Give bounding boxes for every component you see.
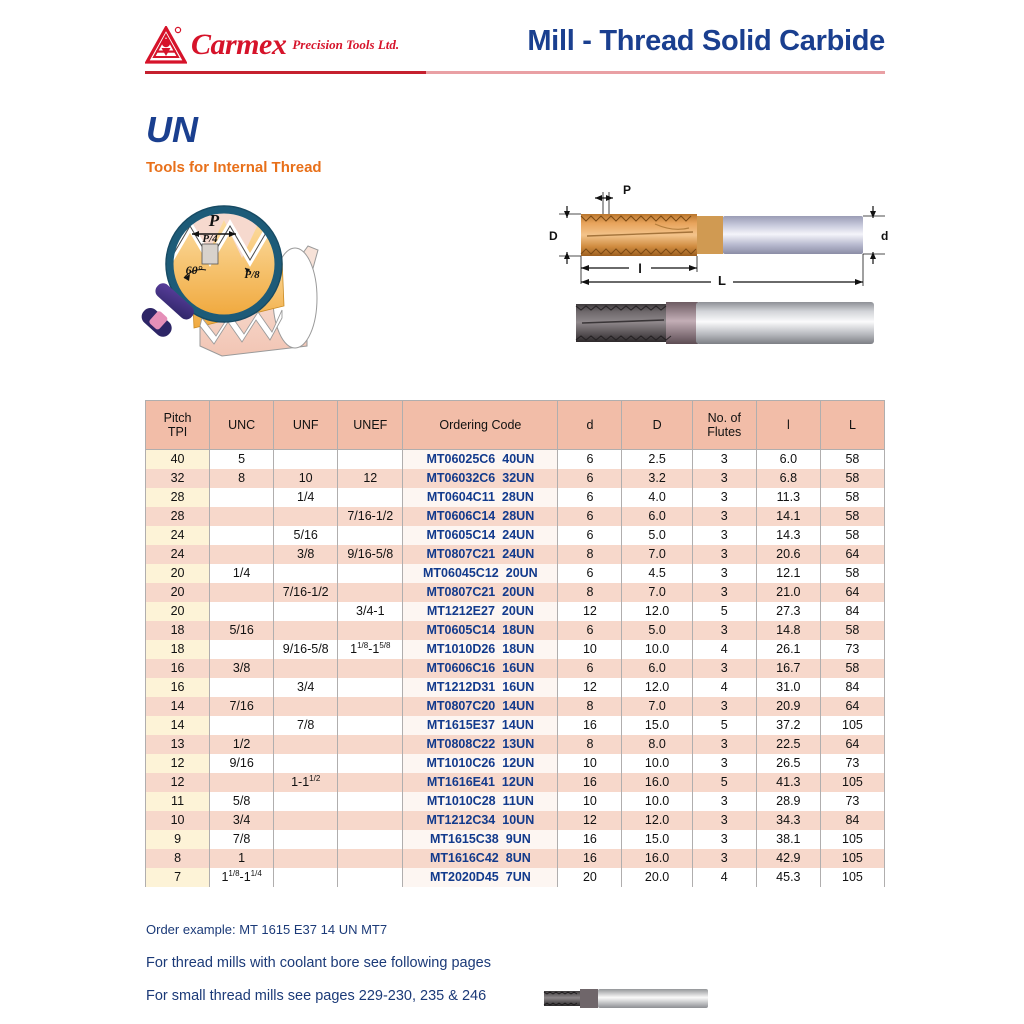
cell-unf: 1/4 xyxy=(274,488,338,507)
cell-unef: 12 xyxy=(338,469,403,488)
cell-pitch-tpi: 7 xyxy=(146,868,210,887)
cell-major-diameter: 3.2 xyxy=(622,469,692,488)
ordering-code-un: 14UN xyxy=(502,716,534,735)
cell-unef xyxy=(338,526,403,545)
diagram-label-l: l xyxy=(638,261,642,276)
profile-label-angle: 60° xyxy=(186,263,203,277)
cell-overall-length: 58 xyxy=(820,450,884,470)
cell-ordering-code[interactable]: MT1615E3714UN xyxy=(403,716,558,735)
cell-ordering-code[interactable]: MT06032C632UN xyxy=(403,469,558,488)
cell-major-diameter: 6.0 xyxy=(622,659,692,678)
cell-shank-diameter: 8 xyxy=(558,583,622,602)
cell-unef: 3/4-1 xyxy=(338,602,403,621)
cell-shank-diameter: 16 xyxy=(558,773,622,792)
ordering-code-un: 20UN xyxy=(502,602,534,621)
cell-thread-length: 26.1 xyxy=(756,640,820,659)
cell-unf xyxy=(274,830,338,849)
cell-pitch-tpi: 32 xyxy=(146,469,210,488)
ordering-code-un: 8UN xyxy=(506,849,531,868)
cell-shank-diameter: 6 xyxy=(558,488,622,507)
cell-overall-length: 105 xyxy=(820,773,884,792)
column-header-pitch: Pitch TPI xyxy=(146,401,210,450)
flutes-header-line2: Flutes xyxy=(707,425,741,439)
cell-pitch-tpi: 12 xyxy=(146,754,210,773)
cell-overall-length: 105 xyxy=(820,716,884,735)
cell-number-of-flutes: 3 xyxy=(692,583,756,602)
ordering-code-un: 7UN xyxy=(506,868,531,887)
cell-ordering-code[interactable]: MT0605C1418UN xyxy=(403,621,558,640)
cell-overall-length: 73 xyxy=(820,640,884,659)
cell-unf: 7/16-1/2 xyxy=(274,583,338,602)
cell-ordering-code[interactable]: MT1212C3410UN xyxy=(403,811,558,830)
cell-overall-length: 73 xyxy=(820,792,884,811)
cell-unc xyxy=(210,773,274,792)
cell-major-diameter: 2.5 xyxy=(622,450,692,470)
cell-unc: 1/2 xyxy=(210,735,274,754)
cell-ordering-code[interactable]: MT0604C1128UN xyxy=(403,488,558,507)
cell-number-of-flutes: 3 xyxy=(692,621,756,640)
cell-shank-diameter: 6 xyxy=(558,621,622,640)
cell-unc xyxy=(210,716,274,735)
cell-unf xyxy=(274,811,338,830)
cell-unef xyxy=(338,811,403,830)
table-row: 287/16-1/2MT0606C1428UN66.0314.158 xyxy=(146,507,885,526)
cell-unef xyxy=(338,830,403,849)
cell-unef xyxy=(338,488,403,507)
cell-shank-diameter: 8 xyxy=(558,697,622,716)
cell-thread-length: 31.0 xyxy=(756,678,820,697)
ordering-code-un: 28UN xyxy=(502,507,534,526)
cell-ordering-code[interactable]: MT1010D2618UN xyxy=(403,640,558,659)
cell-unf xyxy=(274,659,338,678)
cell-thread-length: 42.9 xyxy=(756,849,820,868)
brand-logo: Carmex Precision Tools Ltd. xyxy=(145,22,399,68)
cell-pitch-tpi: 40 xyxy=(146,450,210,470)
cell-overall-length: 58 xyxy=(820,526,884,545)
cell-overall-length: 58 xyxy=(820,469,884,488)
cell-ordering-code[interactable]: MT2020D457UN xyxy=(403,868,558,887)
ordering-code-base: MT1010C28 xyxy=(427,792,496,811)
cell-unc: 1/4 xyxy=(210,564,274,583)
cell-shank-diameter: 20 xyxy=(558,868,622,887)
cell-overall-length: 73 xyxy=(820,754,884,773)
cell-pitch-tpi: 11 xyxy=(146,792,210,811)
cell-major-diameter: 6.0 xyxy=(622,507,692,526)
ordering-code-un: 40UN xyxy=(502,450,534,469)
cell-number-of-flutes: 3 xyxy=(692,735,756,754)
cell-number-of-flutes: 3 xyxy=(692,659,756,678)
cell-unc: 7/16 xyxy=(210,697,274,716)
cell-unc xyxy=(210,507,274,526)
ordering-code-base: MT1615C38 xyxy=(430,830,499,849)
table-row: 281/4MT0604C1128UN64.0311.358 xyxy=(146,488,885,507)
cell-unc xyxy=(210,602,274,621)
cell-number-of-flutes: 4 xyxy=(692,678,756,697)
cell-pitch-tpi: 8 xyxy=(146,849,210,868)
ordering-code-base: MT1212C34 xyxy=(426,811,495,830)
cell-unc: 8 xyxy=(210,469,274,488)
cell-shank-diameter: 6 xyxy=(558,526,622,545)
cell-unef xyxy=(338,450,403,470)
ordering-code-base: MT1212D31 xyxy=(426,678,495,697)
small-mills-note: For small thread mills see pages 229-230… xyxy=(146,988,486,1004)
ordering-code-un: 24UN xyxy=(502,526,534,545)
cell-unef xyxy=(338,564,403,583)
ordering-code-un: 13UN xyxy=(502,735,534,754)
cell-ordering-code[interactable]: MT0808C2213UN xyxy=(403,735,558,754)
cell-pitch-tpi: 20 xyxy=(146,602,210,621)
table-body: 405MT06025C640UN62.536.0583281012MT06032… xyxy=(146,450,885,888)
cell-ordering-code[interactable]: MT0807C2120UN xyxy=(403,583,558,602)
cell-overall-length: 58 xyxy=(820,488,884,507)
cell-pitch-tpi: 16 xyxy=(146,659,210,678)
cell-number-of-flutes: 3 xyxy=(692,811,756,830)
cell-thread-length: 41.3 xyxy=(756,773,820,792)
table-row: 3281012MT06032C632UN63.236.858 xyxy=(146,469,885,488)
cell-unef xyxy=(338,773,403,792)
cell-major-diameter: 15.0 xyxy=(622,716,692,735)
brand-name: Carmex xyxy=(191,30,286,60)
table-row: 405MT06025C640UN62.536.058 xyxy=(146,450,885,470)
cell-major-diameter: 10.0 xyxy=(622,640,692,659)
cell-ordering-code[interactable]: MT0605C1424UN xyxy=(403,526,558,545)
cell-shank-diameter: 6 xyxy=(558,450,622,470)
cell-shank-diameter: 16 xyxy=(558,849,622,868)
cell-ordering-code[interactable]: MT1212E2720UN xyxy=(403,602,558,621)
header-divider xyxy=(145,71,885,74)
cell-overall-length: 105 xyxy=(820,868,884,887)
cell-major-diameter: 7.0 xyxy=(622,545,692,564)
cell-overall-length: 58 xyxy=(820,621,884,640)
cell-major-diameter: 12.0 xyxy=(622,678,692,697)
table-row: 121-11/2MT1616E4112UN1616.0541.3105 xyxy=(146,773,885,792)
cell-number-of-flutes: 3 xyxy=(692,849,756,868)
cell-overall-length: 64 xyxy=(820,735,884,754)
cell-major-diameter: 7.0 xyxy=(622,697,692,716)
cell-unef xyxy=(338,735,403,754)
cell-major-diameter: 8.0 xyxy=(622,735,692,754)
ordering-code-un: 12UN xyxy=(502,773,534,792)
table-row: 97/8MT1615C389UN1615.0338.1105 xyxy=(146,830,885,849)
cell-major-diameter: 4.5 xyxy=(622,564,692,583)
ordering-code-un: 10UN xyxy=(502,811,534,830)
cell-ordering-code[interactable]: MT1010C2811UN xyxy=(403,792,558,811)
cell-thread-length: 6.0 xyxy=(756,450,820,470)
cell-unef xyxy=(338,792,403,811)
cell-major-diameter: 10.0 xyxy=(622,792,692,811)
ordering-code-un: 18UN xyxy=(502,621,534,640)
cell-major-diameter: 15.0 xyxy=(622,830,692,849)
cell-shank-diameter: 8 xyxy=(558,545,622,564)
cell-unf: 3/4 xyxy=(274,678,338,697)
cell-thread-length: 20.9 xyxy=(756,697,820,716)
cell-thread-length: 38.1 xyxy=(756,830,820,849)
cell-pitch-tpi: 20 xyxy=(146,564,210,583)
cell-ordering-code[interactable]: MT06025C640UN xyxy=(403,450,558,470)
table-row: 243/89/16-5/8MT0807C2124UN87.0320.664 xyxy=(146,545,885,564)
table-row: 163/4MT1212D3116UN1212.0431.084 xyxy=(146,678,885,697)
ordering-code-base: MT06025C6 xyxy=(426,450,495,469)
specification-table-wrapper: Pitch TPI UNC UNF UNEF Ordering Code d D… xyxy=(145,400,885,887)
cell-shank-diameter: 16 xyxy=(558,716,622,735)
cell-number-of-flutes: 5 xyxy=(692,773,756,792)
cell-pitch-tpi: 14 xyxy=(146,716,210,735)
cell-number-of-flutes: 3 xyxy=(692,526,756,545)
cell-unc xyxy=(210,488,274,507)
ordering-code-un: 24UN xyxy=(502,545,534,564)
ordering-code-un: 32UN xyxy=(502,469,534,488)
cell-overall-length: 64 xyxy=(820,545,884,564)
cell-overall-length: 84 xyxy=(820,602,884,621)
column-header-unc: UNC xyxy=(210,401,274,450)
cell-thread-length: 45.3 xyxy=(756,868,820,887)
ordering-code-base: MT0606C16 xyxy=(426,659,495,678)
diagram-label-P: P xyxy=(623,183,631,197)
cell-ordering-code[interactable]: MT1010C2612UN xyxy=(403,754,558,773)
cell-shank-diameter: 10 xyxy=(558,640,622,659)
cell-unf: 3/8 xyxy=(274,545,338,564)
cell-number-of-flutes: 3 xyxy=(692,830,756,849)
ordering-code-un: 11UN xyxy=(503,792,534,811)
cell-unc: 3/4 xyxy=(210,811,274,830)
cell-unc: 3/8 xyxy=(210,659,274,678)
cell-pitch-tpi: 28 xyxy=(146,488,210,507)
cell-major-diameter: 7.0 xyxy=(622,583,692,602)
cell-major-diameter: 16.0 xyxy=(622,773,692,792)
cell-thread-length: 21.0 xyxy=(756,583,820,602)
cell-shank-diameter: 10 xyxy=(558,792,622,811)
cell-shank-diameter: 8 xyxy=(558,735,622,754)
cell-shank-diameter: 12 xyxy=(558,678,622,697)
table-row: 81MT1616C428UN1616.0342.9105 xyxy=(146,849,885,868)
cell-thread-length: 20.6 xyxy=(756,545,820,564)
cell-number-of-flutes: 5 xyxy=(692,716,756,735)
ordering-code-base: MT1616C42 xyxy=(430,849,499,868)
cell-unf xyxy=(274,564,338,583)
table-row: 163/8MT0606C1616UN66.0316.758 xyxy=(146,659,885,678)
table-row: 131/2MT0808C2213UN88.0322.564 xyxy=(146,735,885,754)
cell-thread-length: 37.2 xyxy=(756,716,820,735)
cell-unef xyxy=(338,659,403,678)
cell-thread-length: 27.3 xyxy=(756,602,820,621)
cell-number-of-flutes: 3 xyxy=(692,488,756,507)
carmex-triangle-icon xyxy=(145,26,187,64)
table-row: 147/8MT1615E3714UN1615.0537.2105 xyxy=(146,716,885,735)
cell-unf: 9/16-5/8 xyxy=(274,640,338,659)
ordering-code-base: MT1010D26 xyxy=(426,640,495,659)
cell-ordering-code[interactable]: MT0606C1616UN xyxy=(403,659,558,678)
flutes-header-line1: No. of xyxy=(708,411,741,425)
cell-unf xyxy=(274,735,338,754)
section-subtitle: Tools for Internal Thread xyxy=(146,160,322,175)
cell-pitch-tpi: 13 xyxy=(146,735,210,754)
cell-number-of-flutes: 4 xyxy=(692,640,756,659)
ordering-code-base: MT1212E27 xyxy=(427,602,495,621)
table-row: 185/16MT0605C1418UN65.0314.858 xyxy=(146,621,885,640)
cell-shank-diameter: 10 xyxy=(558,754,622,773)
tool-dimension-diagram: P D d l xyxy=(535,180,895,290)
cell-shank-diameter: 6 xyxy=(558,507,622,526)
column-header-ordering-code: Ordering Code xyxy=(403,401,558,450)
cell-thread-length: 16.7 xyxy=(756,659,820,678)
cell-unf xyxy=(274,450,338,470)
catalog-page: Carmex Precision Tools Ltd. Mill - Threa… xyxy=(0,0,1024,1024)
column-header-d-large: D xyxy=(622,401,692,450)
cell-thread-length: 22.5 xyxy=(756,735,820,754)
cell-overall-length: 64 xyxy=(820,697,884,716)
ordering-code-base: MT2020D45 xyxy=(430,868,499,887)
thread-profile-illustration: P P/4 60° P/8 xyxy=(132,186,347,361)
cell-unf xyxy=(274,849,338,868)
page-title: Mill - Thread Solid Carbide xyxy=(527,25,885,58)
section-code: UN xyxy=(146,112,198,148)
cell-thread-length: 14.1 xyxy=(756,507,820,526)
cell-unc xyxy=(210,640,274,659)
cell-unef xyxy=(338,716,403,735)
cell-shank-diameter: 6 xyxy=(558,469,622,488)
cell-ordering-code[interactable]: MT1616C428UN xyxy=(403,849,558,868)
cell-major-diameter: 20.0 xyxy=(622,868,692,887)
cell-ordering-code[interactable]: MT0807C2014UN xyxy=(403,697,558,716)
cell-number-of-flutes: 3 xyxy=(692,564,756,583)
cell-overall-length: 105 xyxy=(820,830,884,849)
cell-unf xyxy=(274,602,338,621)
cell-overall-length: 84 xyxy=(820,811,884,830)
cell-unef xyxy=(338,697,403,716)
cell-pitch-tpi: 24 xyxy=(146,526,210,545)
cell-shank-diameter: 12 xyxy=(558,811,622,830)
cell-unc: 5/8 xyxy=(210,792,274,811)
cell-unc xyxy=(210,678,274,697)
cell-ordering-code[interactable]: MT1615C389UN xyxy=(403,830,558,849)
table-row: 711/8-11/4MT2020D457UN2020.0445.3105 xyxy=(146,868,885,887)
ordering-code-un: 18UN xyxy=(502,640,534,659)
cell-major-diameter: 12.0 xyxy=(622,811,692,830)
cell-ordering-code[interactable]: MT1212D3116UN xyxy=(403,678,558,697)
cell-unef xyxy=(338,583,403,602)
column-header-flutes: No. of Flutes xyxy=(692,401,756,450)
cell-overall-length: 84 xyxy=(820,678,884,697)
ordering-code-base: MT0605C14 xyxy=(426,621,495,640)
cell-unf xyxy=(274,868,338,887)
cell-number-of-flutes: 5 xyxy=(692,602,756,621)
table-row: 201/4MT06045C1220UN64.5312.158 xyxy=(146,564,885,583)
cell-ordering-code[interactable]: MT06045C1220UN xyxy=(403,564,558,583)
cell-major-diameter: 10.0 xyxy=(622,754,692,773)
profile-label-P4: P/4 xyxy=(202,233,218,245)
pitch-header-line1: Pitch xyxy=(164,411,192,425)
cell-unc: 7/8 xyxy=(210,830,274,849)
cell-unef xyxy=(338,868,403,887)
cell-unf: 10 xyxy=(274,469,338,488)
cell-number-of-flutes: 3 xyxy=(692,507,756,526)
cell-number-of-flutes: 4 xyxy=(692,868,756,887)
cell-pitch-tpi: 12 xyxy=(146,773,210,792)
cell-unf xyxy=(274,507,338,526)
ordering-code-base: MT06045C12 xyxy=(423,564,499,583)
ordering-code-un: 28UN xyxy=(502,488,534,507)
table-row: 129/16MT1010C2612UN1010.0326.573 xyxy=(146,754,885,773)
cell-thread-length: 34.3 xyxy=(756,811,820,830)
column-header-d-small: d xyxy=(558,401,622,450)
diagram-label-D: D xyxy=(549,229,558,243)
table-row: 207/16-1/2MT0807C2120UN87.0321.064 xyxy=(146,583,885,602)
cell-pitch-tpi: 18 xyxy=(146,621,210,640)
cell-unef xyxy=(338,678,403,697)
brand-tagline: Precision Tools Ltd. xyxy=(292,38,399,53)
ordering-code-base: MT0808C22 xyxy=(426,735,495,754)
cell-unc: 1 xyxy=(210,849,274,868)
ordering-code-un: 12UN xyxy=(502,754,534,773)
cell-pitch-tpi: 24 xyxy=(146,545,210,564)
cell-number-of-flutes: 3 xyxy=(692,697,756,716)
cell-ordering-code[interactable]: MT1616E4112UN xyxy=(403,773,558,792)
ordering-code-base: MT1615E37 xyxy=(427,716,495,735)
footer-tool-thumbnail xyxy=(540,983,715,1013)
cell-thread-length: 14.3 xyxy=(756,526,820,545)
ordering-code-un: 16UN xyxy=(502,678,534,697)
ordering-code-base: MT0605C14 xyxy=(426,526,495,545)
cell-thread-length: 26.5 xyxy=(756,754,820,773)
cell-thread-length: 28.9 xyxy=(756,792,820,811)
cell-unc: 5 xyxy=(210,450,274,470)
ordering-code-base: MT1616E41 xyxy=(427,773,495,792)
page-header: Carmex Precision Tools Ltd. Mill - Threa… xyxy=(145,22,885,74)
cell-unc xyxy=(210,545,274,564)
ordering-code-base: MT0807C20 xyxy=(426,697,495,716)
cell-pitch-tpi: 9 xyxy=(146,830,210,849)
table-row: 203/4-1MT1212E2720UN1212.0527.384 xyxy=(146,602,885,621)
cell-pitch-tpi: 20 xyxy=(146,583,210,602)
ordering-code-un: 9UN xyxy=(506,830,531,849)
cell-unef: 11/8-15/8 xyxy=(338,640,403,659)
ordering-code-un: 16UN xyxy=(502,659,534,678)
column-header-l-small: l xyxy=(756,401,820,450)
cell-pitch-tpi: 10 xyxy=(146,811,210,830)
cell-unef xyxy=(338,621,403,640)
cell-shank-diameter: 12 xyxy=(558,602,622,621)
cell-unf: 5/16 xyxy=(274,526,338,545)
cell-thread-length: 6.8 xyxy=(756,469,820,488)
cell-major-diameter: 5.0 xyxy=(622,621,692,640)
ordering-code-un: 20UN xyxy=(506,564,538,583)
cell-unc: 11/8-11/4 xyxy=(210,868,274,887)
cell-unf: 1-11/2 xyxy=(274,773,338,792)
column-header-unef: UNEF xyxy=(338,401,403,450)
cell-ordering-code[interactable]: MT0606C1428UN xyxy=(403,507,558,526)
cell-thread-length: 14.8 xyxy=(756,621,820,640)
column-header-unf: UNF xyxy=(274,401,338,450)
cell-number-of-flutes: 3 xyxy=(692,792,756,811)
cell-overall-length: 58 xyxy=(820,507,884,526)
cell-thread-length: 12.1 xyxy=(756,564,820,583)
cell-shank-diameter: 6 xyxy=(558,564,622,583)
cell-pitch-tpi: 16 xyxy=(146,678,210,697)
diagram-label-d: d xyxy=(881,229,888,243)
cell-pitch-tpi: 28 xyxy=(146,507,210,526)
column-header-l-large: L xyxy=(820,401,884,450)
order-example-note: Order example: MT 1615 E37 14 UN MT7 xyxy=(146,922,387,937)
cell-overall-length: 58 xyxy=(820,564,884,583)
diagram-label-L: L xyxy=(718,273,726,288)
ordering-code-un: 20UN xyxy=(502,583,534,602)
coolant-bore-note: For thread mills with coolant bore see f… xyxy=(146,955,491,971)
table-row: 189/16-5/811/8-15/8MT1010D2618UN1010.042… xyxy=(146,640,885,659)
cell-ordering-code[interactable]: MT0807C2124UN xyxy=(403,545,558,564)
ordering-code-base: MT0606C14 xyxy=(426,507,495,526)
ordering-code-base: MT0807C21 xyxy=(426,583,495,602)
cell-overall-length: 58 xyxy=(820,659,884,678)
